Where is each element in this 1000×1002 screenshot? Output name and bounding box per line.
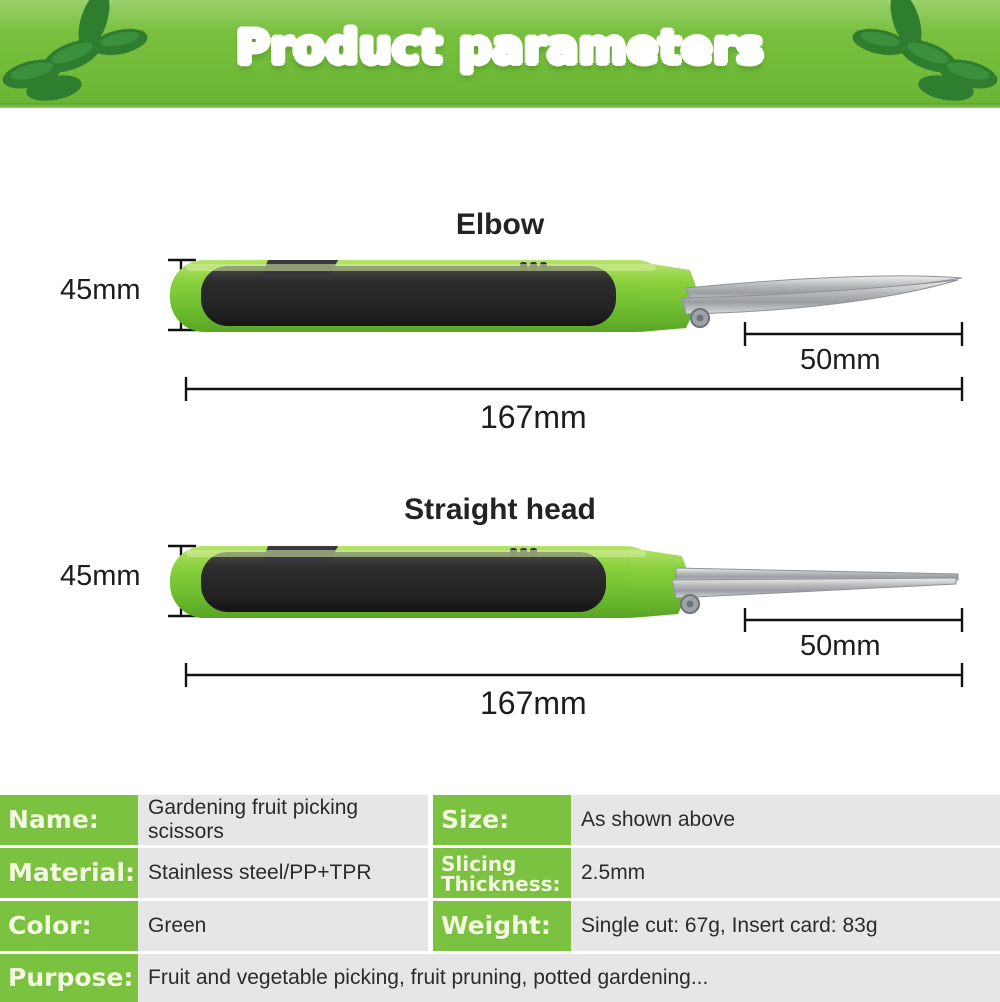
spec-value-purpose: Fruit and vegetable picking, fruit pruni…: [138, 954, 1000, 1002]
dimension-label-blade-straight: 50mm: [800, 630, 881, 663]
product-diagram-elbow: 45mm 50mm 167mm: [0, 236, 1000, 466]
blade-lower-straight: [672, 578, 956, 598]
handle-highlight-straight: [186, 550, 646, 557]
spec-key-purpose: Purpose:: [0, 954, 138, 1002]
product-diagram-straight: 45mm 50mm 167mm: [0, 522, 1000, 752]
grip-tpr-straight: [201, 552, 606, 612]
banner-bottom-edge: [0, 103, 1000, 108]
dimension-blade-line-straight: [745, 608, 962, 632]
dimension-label-height-straight: 45mm: [60, 560, 141, 593]
spec-value-color: Green: [138, 901, 428, 951]
spec-key-size: Size:: [433, 795, 571, 845]
spec-value-weight: Single cut: 67g, Insert card: 83g: [571, 901, 1000, 951]
spec-value-material: Stainless steel/PP+TPR: [138, 848, 428, 898]
dimension-total-line-elbow: [186, 377, 962, 401]
dimension-label-blade-elbow: 50mm: [800, 344, 881, 377]
dimension-label-total-straight: 167mm: [480, 685, 587, 722]
spec-key-weight: Weight:: [433, 901, 571, 951]
page-title: Product parameters: [0, 20, 1000, 74]
spec-value-slicing-thickness: 2.5mm: [571, 848, 1000, 898]
spec-key-slicing-thickness: Slicing Thickness:: [433, 848, 571, 898]
spec-row-color-weight: Color: Green Weight: Single cut: 67g, In…: [0, 901, 1000, 951]
dimension-label-height-elbow: 45mm: [60, 274, 141, 307]
spec-key-material: Material:: [0, 848, 138, 898]
dimension-label-total-elbow: 167mm: [480, 399, 587, 436]
handle-highlight-elbow: [186, 264, 656, 271]
spec-key-name: Name:: [0, 795, 138, 845]
spec-table: Name: Gardening fruit picking scissors S…: [0, 795, 1000, 1000]
spec-value-name: Gardening fruit picking scissors: [138, 795, 428, 845]
spec-key-color: Color:: [0, 901, 138, 951]
spec-row-name-size: Name: Gardening fruit picking scissors S…: [0, 795, 1000, 845]
spec-row-purpose: Purpose: Fruit and vegetable picking, fr…: [0, 954, 1000, 1002]
spec-value-size: As shown above: [571, 795, 1000, 845]
dimension-blade-line-elbow: [745, 322, 962, 346]
header-banner: Product parameters: [0, 0, 1000, 108]
dimension-total-line-straight: [186, 663, 962, 687]
spec-row-material-thickness: Material: Stainless steel/PP+TPR Slicing…: [0, 848, 1000, 898]
spec-key-slicing-line2: Thickness:: [441, 872, 561, 896]
